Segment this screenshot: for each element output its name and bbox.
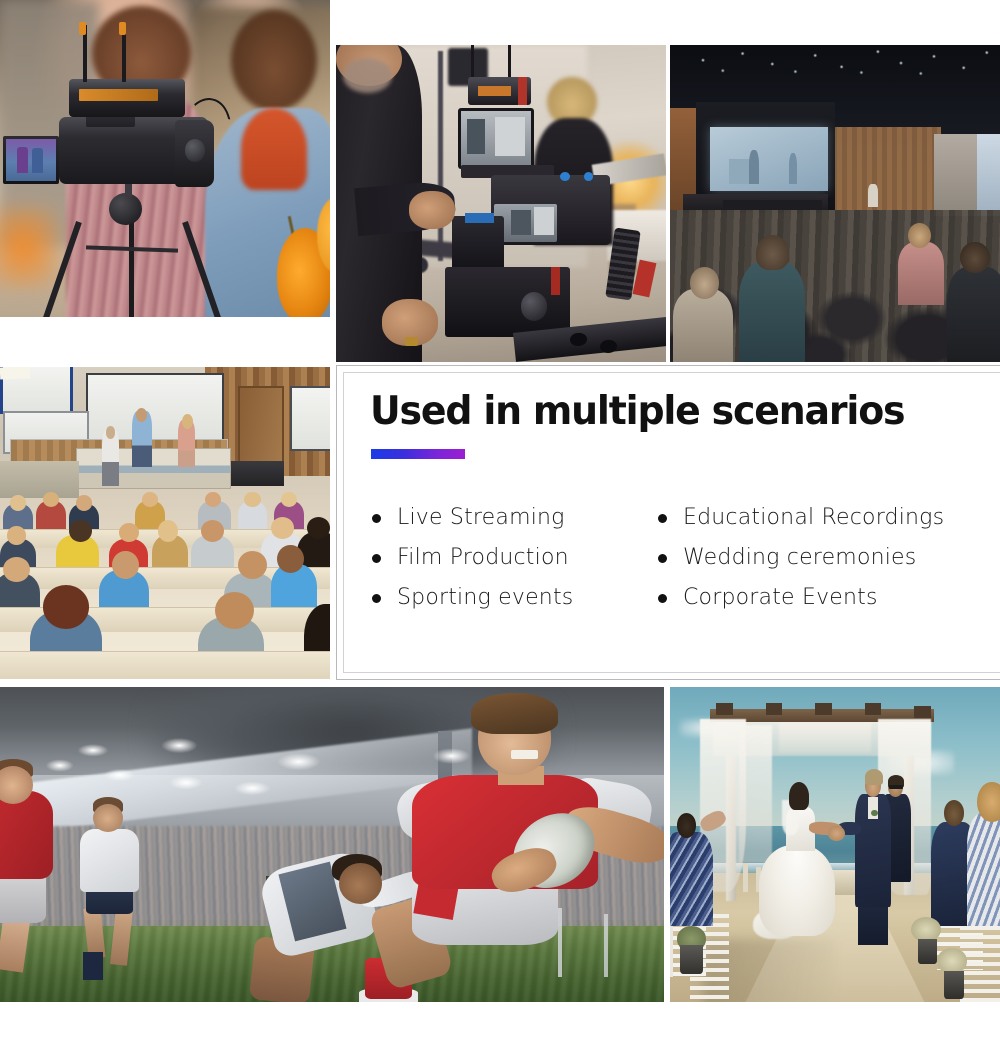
beam-block-five [914, 706, 931, 719]
student-head [119, 523, 139, 542]
receiver-display [79, 89, 158, 102]
goal-post-left [558, 908, 562, 977]
red-accent-one [551, 267, 561, 296]
guest-left-body [670, 832, 713, 927]
photo-film-production [336, 45, 666, 362]
side-equipment-table [231, 461, 284, 486]
woman-two-orange-top [241, 108, 307, 190]
student-head [69, 520, 92, 542]
standing-speaker [868, 184, 878, 206]
guest-far-right-body [967, 813, 1000, 926]
list-item: Sporting events [372, 583, 658, 613]
attendee-body-two [673, 289, 732, 362]
presenter-two-head [136, 408, 147, 422]
midfield-player-jersey [80, 829, 140, 892]
aisle-pot-two [918, 939, 938, 964]
list-item: Educational Recordings [658, 503, 988, 533]
student-head [10, 495, 27, 511]
page-title: Used in multiple scenarios [370, 389, 904, 435]
student-head [158, 520, 178, 542]
bullet-dot-icon [372, 514, 381, 523]
ball-carrier-hair [471, 693, 557, 734]
student-head [244, 492, 261, 508]
woman-two-hair [231, 10, 317, 111]
list-item: Corporate Events [658, 583, 988, 613]
beam-block-one [716, 703, 733, 716]
scenarios-panel-inner: Used in multiple scenarios Live Streamin… [343, 372, 1000, 673]
aisle-plant-three [937, 948, 967, 973]
bride-dress-skirt [759, 845, 835, 936]
bullet-dot-icon [372, 594, 381, 603]
list-item-label: Live Streaming [397, 503, 565, 533]
foreground-produce-blur [0, 206, 59, 288]
photo-conference-hall [670, 45, 1000, 362]
bench-row-four [0, 651, 330, 679]
attendee-body-one [739, 261, 805, 362]
joined-hands [828, 826, 845, 842]
screen-subject-two [32, 148, 43, 173]
aisle-pot-three [944, 971, 964, 999]
screen-subject-one [17, 147, 28, 173]
groom-hair [865, 769, 883, 785]
screen-figure-two [789, 153, 797, 185]
canopy-drape-left-inner [739, 725, 772, 864]
bride-hair [789, 782, 809, 810]
beam-block-four [865, 703, 882, 716]
matte-box [452, 216, 505, 270]
list-item-label: Corporate Events [683, 583, 878, 613]
midfield-player-head [93, 804, 123, 832]
light-stand [438, 51, 443, 260]
groom-boutonniere [871, 810, 878, 816]
student-head [76, 495, 93, 511]
scenarios-column-right: Educational Recordings Wedding ceremonie… [658, 503, 988, 613]
projection-screen [710, 127, 829, 190]
attendee-head-two [690, 267, 720, 299]
receiver-antenna-left [471, 45, 474, 80]
antenna-cap-right [119, 22, 126, 35]
attendee-head-three [908, 223, 931, 248]
rig-knob [521, 292, 547, 321]
presenter-three-head [182, 414, 193, 430]
guest-right-head [944, 800, 964, 825]
receiver-side-accent [518, 77, 528, 106]
list-item-label: Sporting events [397, 583, 573, 613]
aisle-steps [0, 461, 79, 498]
receiver-display [478, 86, 511, 96]
aisle-pot-one [680, 945, 703, 973]
antenna-cap-left [79, 22, 86, 35]
student-head [201, 520, 224, 542]
slider-hole-two [599, 339, 617, 353]
attendee-body-three [898, 242, 944, 305]
list-item-label: Wedding ceremonies [683, 543, 916, 573]
presenter-one-head [106, 426, 116, 438]
monitor-subject [467, 119, 485, 154]
rear-screen-shelf [534, 207, 554, 236]
photo-rugby-match [0, 687, 664, 1002]
student-head [43, 585, 89, 629]
photo-vlogging-camera [0, 0, 330, 317]
student-head [215, 592, 255, 629]
candle-stand-one [743, 863, 748, 891]
tackler-head [339, 863, 382, 904]
camera-flip-screen [3, 136, 59, 184]
promo-banner: Used in multiple scenarios Live Streamin… [0, 0, 1000, 1047]
list-item-label: Educational Recordings [683, 503, 944, 533]
lecturer-desk [76, 448, 231, 489]
camera-dial [185, 139, 205, 161]
photo-beach-wedding [670, 687, 1000, 1002]
bullet-dot-icon [372, 554, 381, 563]
scenarios-list: Live Streaming Film Production Sporting … [358, 503, 990, 613]
operator-hand-upper [409, 191, 455, 229]
left-player-red-jersey [0, 791, 53, 879]
accent-underline [371, 449, 465, 459]
tripod-ball-head [109, 193, 142, 225]
student-head [7, 526, 27, 545]
attendee-head-one [756, 235, 789, 270]
operator-ring [405, 337, 418, 347]
list-item-label: Film Production [397, 543, 569, 573]
photo-lecture-hall [0, 367, 330, 679]
beam-block-two [766, 703, 783, 716]
monitor-shelf [495, 117, 526, 156]
receiver-antenna-right [508, 45, 511, 80]
monitor-screen [461, 111, 531, 165]
ball-carrier-mouthguard [511, 750, 538, 759]
midfield-player-sock [83, 952, 103, 980]
scenarios-panel: Used in multiple scenarios Live Streamin… [336, 365, 1000, 680]
list-item: Film Production [372, 543, 658, 573]
list-item: Live Streaming [372, 503, 658, 533]
operator-beard [343, 58, 393, 93]
attendee-head-four [960, 242, 990, 274]
goal-post-right [604, 914, 608, 977]
beam-block-three [815, 703, 832, 716]
officiant-sunglasses [889, 785, 902, 789]
student-head [277, 545, 303, 573]
right-wood-wall [822, 127, 941, 209]
on-camera-monitor [458, 108, 534, 168]
student-head [271, 517, 294, 539]
scenarios-column-left: Live Streaming Film Production Sporting … [358, 503, 658, 613]
bullet-dot-icon [658, 594, 667, 603]
camera-screen-image [6, 139, 56, 181]
list-item: Wedding ceremonies [658, 543, 988, 573]
tripod-leg-center [129, 222, 134, 317]
student-head [307, 517, 330, 539]
student-head [112, 551, 138, 579]
bullet-dot-icon [658, 554, 667, 563]
desk-paper [0, 367, 30, 380]
rear-screen-subject [511, 210, 531, 235]
bullet-dot-icon [658, 514, 667, 523]
screen-figure-one [749, 150, 759, 185]
projection-screen-right [290, 386, 330, 452]
blue-accent-strip [465, 213, 495, 223]
student-head [3, 557, 29, 582]
red-accent-two [633, 259, 656, 297]
attendee-body-four [947, 267, 1000, 362]
